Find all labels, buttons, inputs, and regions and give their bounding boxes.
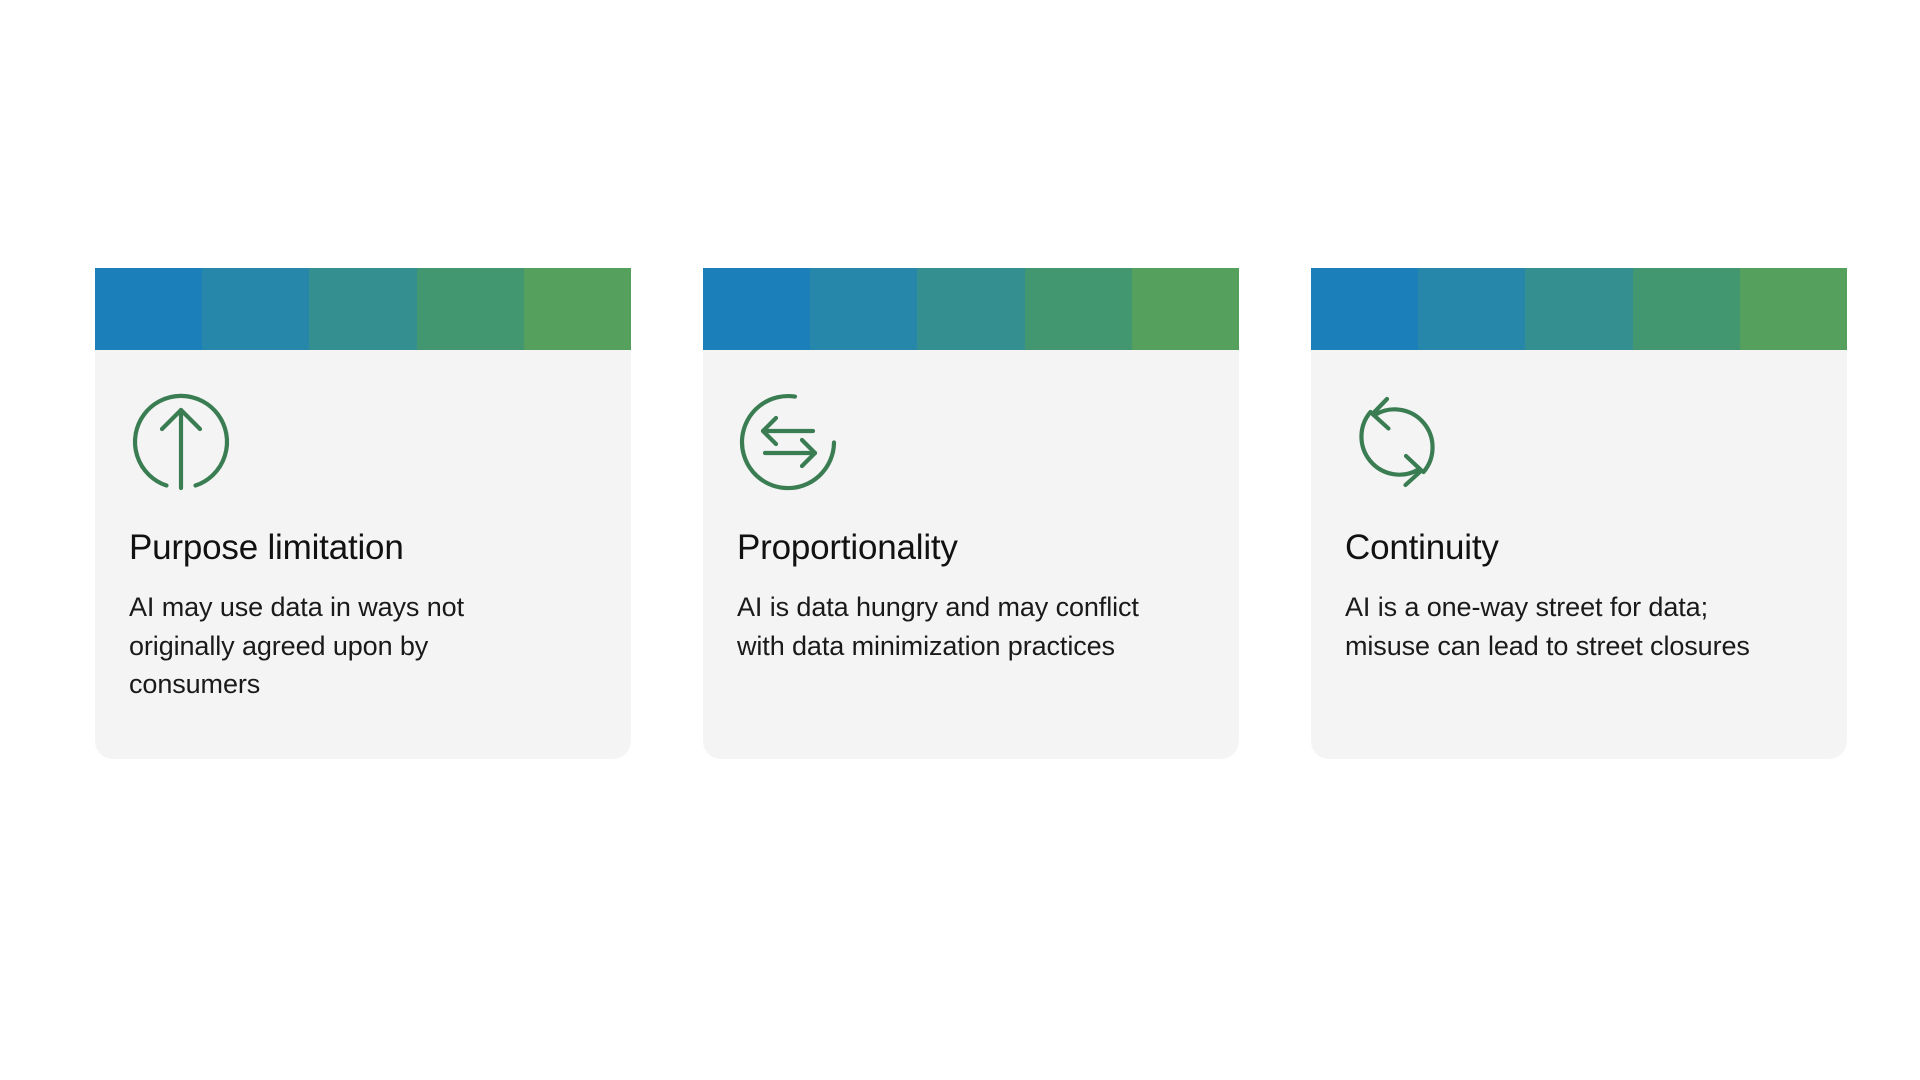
gradient-band-3 — [917, 268, 1024, 350]
gradient-bar — [1311, 268, 1847, 350]
circular-refresh-arrows-icon — [1345, 390, 1449, 494]
card-proportionality[interactable]: Proportionality AI is data hungry and ma… — [703, 268, 1239, 759]
arrow-up-in-circle-icon — [129, 390, 233, 494]
card-body: Proportionality AI is data hungry and ma… — [703, 350, 1239, 721]
card-title: Purpose limitation — [129, 528, 597, 568]
gradient-band-5 — [1132, 268, 1239, 350]
card-description: AI is a one-way street for data; misuse … — [1345, 588, 1765, 665]
infographic-board: Purpose limitation AI may use data in wa… — [0, 0, 1920, 1080]
card-body: Continuity AI is a one-way street for da… — [1311, 350, 1847, 721]
card-continuity[interactable]: Continuity AI is a one-way street for da… — [1311, 268, 1847, 759]
two-way-arrows-in-circle-icon — [737, 390, 841, 494]
card-description: AI is data hungry and may conflict with … — [737, 588, 1157, 665]
gradient-band-2 — [202, 268, 309, 350]
gradient-band-3 — [309, 268, 416, 350]
gradient-band-1 — [95, 268, 202, 350]
gradient-band-4 — [1633, 268, 1740, 350]
gradient-bar — [95, 268, 631, 350]
gradient-band-2 — [810, 268, 917, 350]
card-title: Continuity — [1345, 528, 1813, 568]
gradient-band-1 — [1311, 268, 1418, 350]
gradient-band-5 — [524, 268, 631, 350]
card-group: Purpose limitation AI may use data in wa… — [95, 268, 1847, 759]
card-body: Purpose limitation AI may use data in wa… — [95, 350, 631, 759]
gradient-bar — [703, 268, 1239, 350]
gradient-band-3 — [1525, 268, 1632, 350]
card-description: AI may use data in ways not originally a… — [129, 588, 549, 703]
gradient-band-2 — [1418, 268, 1525, 350]
card-purpose-limitation[interactable]: Purpose limitation AI may use data in wa… — [95, 268, 631, 759]
gradient-band-4 — [417, 268, 524, 350]
card-title: Proportionality — [737, 528, 1205, 568]
gradient-band-4 — [1025, 268, 1132, 350]
gradient-band-1 — [703, 268, 810, 350]
gradient-band-5 — [1740, 268, 1847, 350]
